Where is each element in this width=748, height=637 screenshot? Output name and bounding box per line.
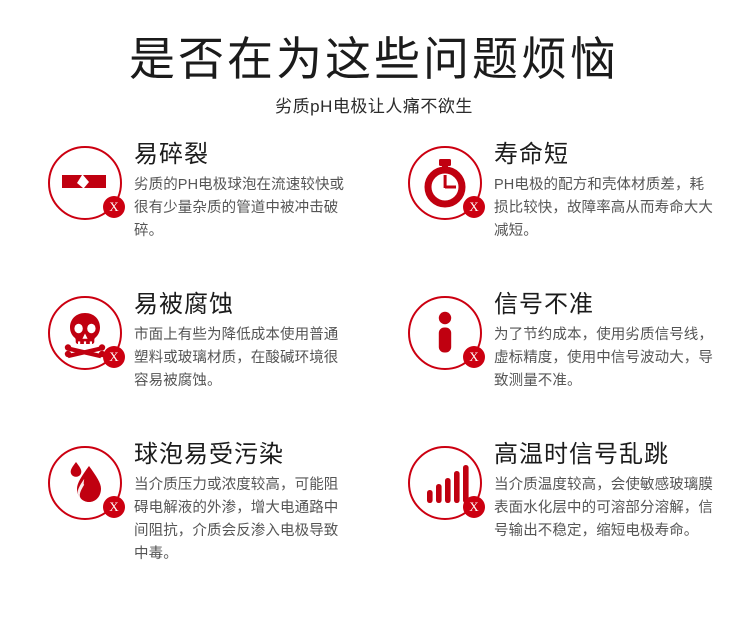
page-subtitle: 劣质pH电极让人痛不欲生	[0, 96, 748, 118]
icon-badge: X	[48, 146, 122, 220]
icon-badge: X	[408, 446, 482, 520]
pain-point-item-6: X 高温时信号乱跳 当介质温度较高，会使敏感玻璃膜表面水化层中的可溶部分溶解，信…	[360, 440, 748, 566]
item-description: 市面上有些为降低成本使用普通塑料或玻璃材质，在酸碱环境很容易被腐蚀。	[134, 324, 347, 393]
page-title: 是否在为这些问题烦恼	[0, 34, 748, 86]
item-title: 易碎裂	[134, 140, 347, 170]
item-description: PH电极的配方和壳体材质差，耗损比较快，故障率高从而寿命大大减短。	[494, 174, 715, 243]
x-badge: X	[463, 496, 485, 518]
text-block: 寿命短 PH电极的配方和壳体材质差，耗损比较快，故障率高从而寿命大大减短。	[482, 140, 715, 243]
text-block: 球泡易受污染 当介质压力或浓度较高，可能阻碍电解液的外渗，增大电通路中间阻抗，介…	[122, 440, 347, 566]
text-block: 易被腐蚀 市面上有些为降低成本使用普通塑料或玻璃材质，在酸碱环境很容易被腐蚀。	[122, 290, 347, 393]
x-badge: X	[103, 496, 125, 518]
pain-point-item-5: X 球泡易受污染 当介质压力或浓度较高，可能阻碍电解液的外渗，增大电通路中间阻抗…	[0, 440, 360, 566]
pain-point-item-3: X 易被腐蚀 市面上有些为降低成本使用普通塑料或玻璃材质，在酸碱环境很容易被腐蚀…	[0, 290, 360, 440]
icon-badge: X	[48, 296, 122, 370]
icon-badge: X	[408, 296, 482, 370]
item-description: 当介质温度较高，会使敏感玻璃膜表面水化层中的可溶部分溶解，信号输出不稳定，缩短电…	[494, 474, 715, 543]
x-badge: X	[463, 346, 485, 368]
item-title: 高温时信号乱跳	[494, 440, 715, 470]
pain-point-item-4: X 信号不准 为了节约成本，使用劣质信号线，虚标精度，使用中信号波动大，导致测量…	[360, 290, 748, 440]
pain-point-item-1: X 易碎裂 劣质的PH电极球泡在流速较快或很有少量杂质的管道中被冲击破碎。	[0, 140, 360, 290]
item-description: 劣质的PH电极球泡在流速较快或很有少量杂质的管道中被冲击破碎。	[134, 174, 347, 243]
x-badge: X	[103, 346, 125, 368]
item-title: 易被腐蚀	[134, 290, 347, 320]
text-block: 易碎裂 劣质的PH电极球泡在流速较快或很有少量杂质的管道中被冲击破碎。	[122, 140, 347, 243]
text-block: 高温时信号乱跳 当介质温度较高，会使敏感玻璃膜表面水化层中的可溶部分溶解，信号输…	[482, 440, 715, 543]
item-title: 信号不准	[494, 290, 715, 320]
item-title: 寿命短	[494, 140, 715, 170]
x-badge: X	[463, 196, 485, 218]
icon-badge: X	[48, 446, 122, 520]
pain-point-grid: X 易碎裂 劣质的PH电极球泡在流速较快或很有少量杂质的管道中被冲击破碎。 X …	[0, 140, 748, 566]
header: 是否在为这些问题烦恼 劣质pH电极让人痛不欲生	[0, 0, 748, 118]
item-description: 为了节约成本，使用劣质信号线，虚标精度，使用中信号波动大，导致测量不准。	[494, 324, 715, 393]
item-description: 当介质压力或浓度较高，可能阻碍电解液的外渗，增大电通路中间阻抗，介质会反渗入电极…	[134, 474, 347, 566]
icon-badge: X	[408, 146, 482, 220]
x-badge: X	[103, 196, 125, 218]
pain-point-item-2: X 寿命短 PH电极的配方和壳体材质差，耗损比较快，故障率高从而寿命大大减短。	[360, 140, 748, 290]
text-block: 信号不准 为了节约成本，使用劣质信号线，虚标精度，使用中信号波动大，导致测量不准…	[482, 290, 715, 393]
pain-points-infographic: { "header": { "title": "是否在为这些问题烦恼", "su…	[0, 0, 748, 637]
item-title: 球泡易受污染	[134, 440, 347, 470]
